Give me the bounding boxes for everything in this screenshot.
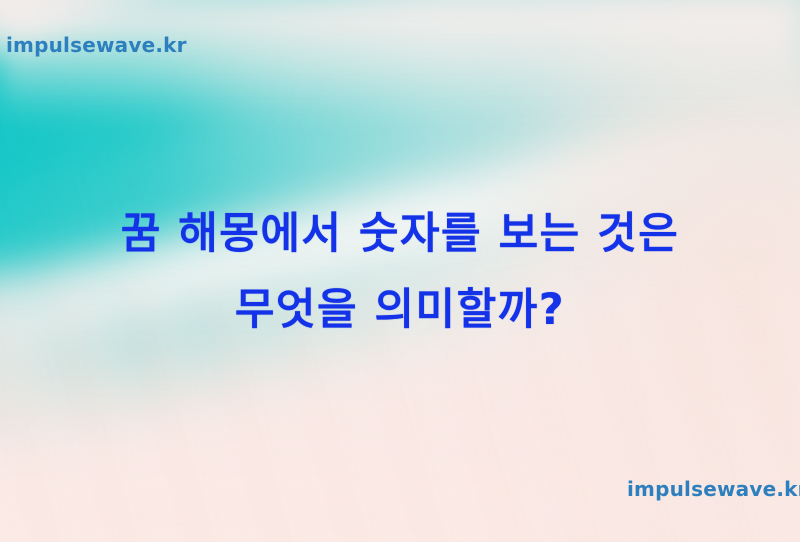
title-line-2: 무엇을 의미할까? — [0, 272, 800, 348]
watermark-top-left: impulsewave.kr — [6, 33, 187, 57]
background-top-wash — [0, 0, 800, 119]
thumbnail-card: impulsewave.kr 꿈 해몽에서 숫자를 보는 것은 무엇을 의미할까… — [0, 0, 800, 542]
page-title: 꿈 해몽에서 숫자를 보는 것은 무엇을 의미할까? — [0, 196, 800, 348]
watermark-bottom-right: impulsewave.kr — [627, 477, 800, 501]
title-line-1: 꿈 해몽에서 숫자를 보는 것은 — [0, 196, 800, 272]
